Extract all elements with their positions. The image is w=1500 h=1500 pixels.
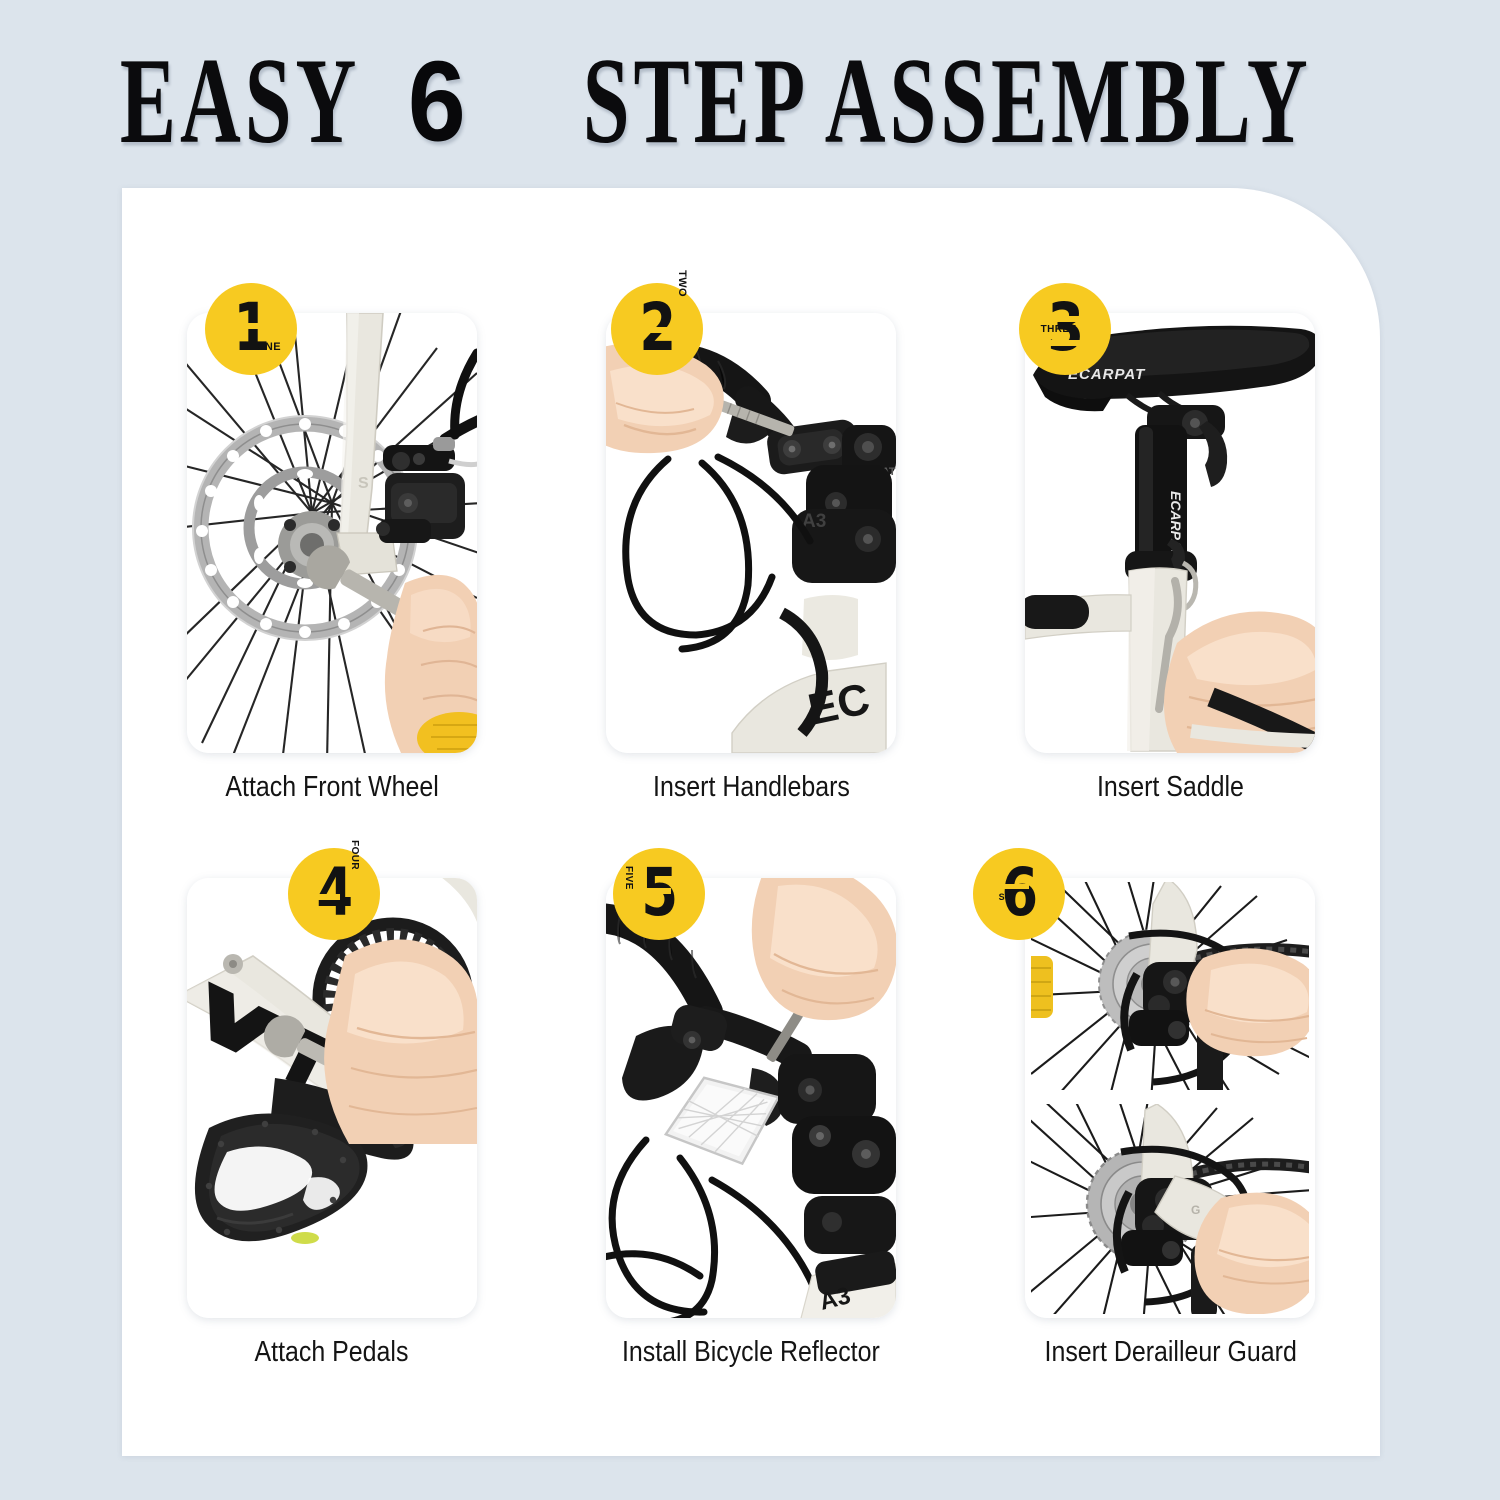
- assembly-steps-card: 1 ONE: [122, 188, 1380, 1456]
- step-3-word: THREE: [1041, 324, 1077, 335]
- title-step-count: 6: [408, 43, 466, 162]
- step-6-badge: 6 SIX: [973, 848, 1065, 940]
- pedal-illustration: [187, 878, 477, 1318]
- step-5-number: 5: [623, 848, 697, 940]
- title-part-two: STEP ASSEMBLY: [583, 40, 1312, 163]
- step-1-word: ONE: [256, 341, 281, 353]
- saddle-illustration: ECARPAT: [1025, 313, 1315, 753]
- step-5-word: FIVE: [623, 866, 634, 890]
- step-5: 5 FIVE: [541, 848, 960, 1418]
- step-4-photo: [187, 878, 477, 1318]
- step-2-caption: Insert Handlebars: [653, 771, 850, 804]
- step-1-number: 1: [214, 283, 288, 375]
- step-1-badge: 1 ONE: [205, 283, 297, 375]
- front-wheel-illustration: S: [187, 313, 477, 753]
- step-6-caption: Insert Derailleur Guard: [1044, 1336, 1296, 1369]
- step-6-number: 6: [982, 848, 1056, 940]
- step-3-badge: 3 THREE: [1019, 283, 1111, 375]
- title-part-one: EASY: [120, 40, 360, 163]
- handlebar-illustration: ECARPAT A3: [606, 313, 896, 753]
- step-3-photo: ECARPAT: [1025, 313, 1315, 753]
- step-3-caption: Insert Saddle: [1097, 771, 1244, 804]
- step-1-photo: S: [187, 313, 477, 753]
- step-1-caption: Attach Front Wheel: [225, 771, 438, 804]
- step-5-caption: Install Bicycle Reflector: [622, 1336, 880, 1369]
- steps-row-top: 1 ONE: [122, 283, 1380, 843]
- step-4-word: FOUR: [349, 840, 360, 870]
- step-1: 1 ONE: [122, 283, 541, 843]
- svg-text:G: G: [1191, 1203, 1200, 1217]
- step-4-caption: Attach Pedals: [255, 1336, 409, 1369]
- step-5-badge: 5 FIVE: [613, 848, 705, 940]
- steps-row-bottom: 4 FOUR: [122, 848, 1380, 1418]
- derailleur-guard-illustration: G: [1025, 878, 1315, 1318]
- step-2-photo: ECARPAT A3: [606, 313, 896, 753]
- step-3: 3 THREE ECARPAT: [961, 283, 1380, 843]
- page-title: EASY6STEP ASSEMBLY: [0, 48, 1500, 158]
- svg-text:S: S: [358, 475, 369, 492]
- step-2-badge: 2 TWO: [611, 283, 703, 375]
- step-6: 6 SIX: [961, 848, 1380, 1418]
- step-4-badge: 4 FOUR: [288, 848, 380, 940]
- step-2-word: TWO: [676, 270, 688, 297]
- step-5-photo: A3: [606, 878, 896, 1318]
- reflector-illustration: A3: [606, 878, 896, 1318]
- step-6-word: SIX: [999, 892, 1015, 902]
- step-4: 4 FOUR: [122, 848, 541, 1418]
- step-2: 2 TWO: [541, 283, 960, 843]
- step-6-photo: G: [1025, 878, 1315, 1318]
